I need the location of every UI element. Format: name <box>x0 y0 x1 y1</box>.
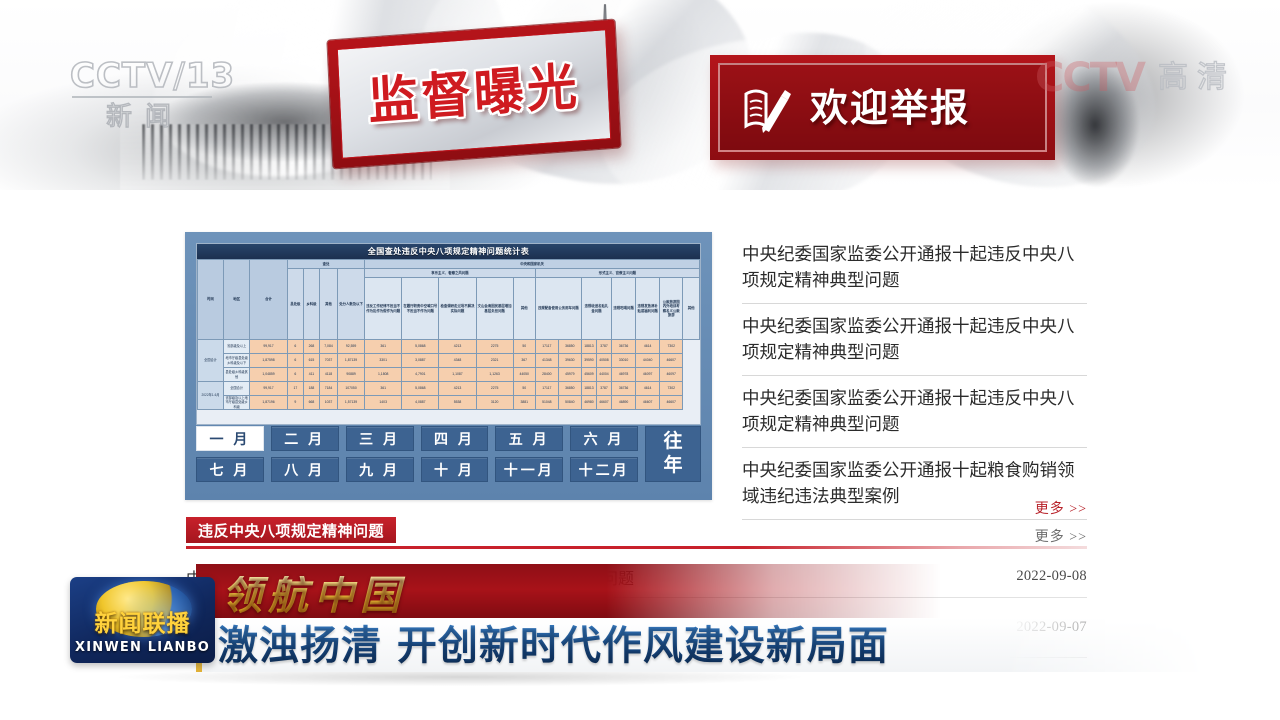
cell-value: 4,0887 <box>402 396 439 410</box>
cell-value: 3787 <box>596 340 611 354</box>
page-content: 全国查处违反中央八项规定精神问题统计表 时间 <box>0 190 1280 720</box>
news-title: 中央纪委国家监委公开通报十起违反中央八项规定精神典型问题 <box>742 385 1087 437</box>
cctv-bug-underline <box>72 96 212 98</box>
cell-value: 5538 <box>439 396 476 410</box>
cell-value: 39590 <box>581 354 596 368</box>
hd-watermark: CCTV 高清 <box>1035 58 1236 98</box>
table-header-row-1: 时间 地区 合计 查处 中央和国家机关 <box>198 260 700 269</box>
cell-value: 3,0887 <box>402 354 439 368</box>
list-item[interactable]: 中央纪委国家监委公开通报十起违反中央八项规定精神典型问题 <box>742 232 1087 304</box>
news-title: 中央纪委国家监委公开通报十起违反中央八项规定精神典型问题 <box>742 241 1087 293</box>
th-group-hedonism: 形式主义、官僚主义问题 <box>535 269 699 278</box>
cell-value: 6 <box>287 340 303 354</box>
cell-value: 4,7901 <box>402 368 439 382</box>
cell-value: 44050 <box>513 368 535 382</box>
th-detail-7: 违规收送名贴礼金问题 <box>581 278 611 340</box>
th-other-level: 其他 <box>319 269 337 340</box>
month-button-2[interactable]: 二 月 <box>271 426 339 451</box>
cell-value: 36850 <box>558 340 581 354</box>
past-years-char-2: 年 <box>663 454 682 478</box>
th-group-central: 中央和国家机关 <box>365 260 700 269</box>
cell-value: 1,1087 <box>439 368 476 382</box>
month-button-7[interactable]: 七 月 <box>196 457 264 482</box>
th-detail-2: 在履行职责中空喊口号不担当不作为问题 <box>402 278 439 340</box>
cell-value: 1403 <box>365 396 402 410</box>
cell-value: 6 <box>287 354 303 368</box>
cell-value: 367 <box>513 354 535 368</box>
cell-region: 全国合计 <box>224 382 250 396</box>
th-county-level: 县处级 <box>287 269 303 340</box>
section-more-link[interactable]: 更多 >> <box>940 478 1087 518</box>
cell-value: 36850 <box>558 382 581 396</box>
th-township-level: 乡科级 <box>303 269 319 340</box>
cell-region: 地市厅级县处级乡科级及以下 <box>224 354 250 368</box>
news-title: 西安通报3起违反中央八项规定精神问题 <box>186 616 466 640</box>
th-detail-10: 公款旅游国内外培训考察名义公款旅游 <box>660 278 683 340</box>
cell-value: 40508 <box>596 354 611 368</box>
cctv-wordmark: CCTV <box>70 56 173 96</box>
broadcast-frame: CCTV/13 新闻 监督曝光 <box>0 0 1280 720</box>
welcome-report-banner: 欢迎举报 <box>710 55 1055 160</box>
cell-value: 17117 <box>535 382 558 396</box>
month-button-12[interactable]: 十二月 <box>570 457 638 482</box>
cell-value: 46607 <box>636 396 660 410</box>
section-tag-badge: 违反中央八项规定精神问题 <box>186 517 396 543</box>
th-detail-3: 检查调研走过场不解决实际问题 <box>439 278 476 340</box>
cell-value: 44004 <box>596 368 611 382</box>
plaque-title: 监督曝光 <box>367 61 581 126</box>
cell-value: 361 <box>365 340 402 354</box>
cell-value: 7037 <box>319 354 337 368</box>
th-period: 时间 <box>198 260 224 340</box>
cctv-bug-text: CCTV/13 <box>70 58 220 94</box>
cell-value: 3787 <box>596 382 611 396</box>
cell-value: 46607 <box>660 354 683 368</box>
statistics-table-shell: 全国查处违反中央八项规定精神问题统计表 时间 <box>196 243 701 425</box>
cell-value: 1037 <box>319 396 337 410</box>
cell-value: 4614 <box>636 382 660 396</box>
th-region: 地区 <box>224 260 250 340</box>
cell-value: 1,57139 <box>338 396 365 410</box>
table-row: 地市厅级县处级乡科级及以下 1,87598 6 615 7037 1,87139… <box>198 354 700 368</box>
news-date: 2022-09-08 <box>1016 568 1087 585</box>
cell-value: 4614 <box>636 340 660 354</box>
cell-value: 3881 <box>513 396 535 410</box>
cell-value: 5,0868 <box>402 382 439 396</box>
th-detail-1: 违反工作纪律不担当不作为乱作为假作为问题 <box>365 278 402 340</box>
supervision-exposure-plaque: 监督曝光 <box>327 20 620 169</box>
cell-value: 28400 <box>535 368 558 382</box>
cell-value: 36736 <box>612 340 636 354</box>
cell-region: 县处级乡科级其他 <box>224 368 250 382</box>
cctv13-channel-bug: CCTV/13 新闻 <box>70 58 220 136</box>
hd-label: 高清 <box>1158 63 1236 93</box>
cell-region: 省部级及以上 <box>224 340 250 354</box>
month-button-1[interactable]: 一 月 <box>196 426 264 451</box>
cell-value: 3120 <box>476 396 513 410</box>
th-detail-6: 违规配备使用公务用车问题 <box>535 278 581 340</box>
cell-value: 92,559 <box>338 340 365 354</box>
month-button-5[interactable]: 五 月 <box>495 426 563 451</box>
month-grid: 一 月 二 月 三 月 四 月 五 月 六 月 往 年 七 月 八 月 九 月 … <box>196 426 701 482</box>
cell-value: 4213 <box>439 382 476 396</box>
cctv-bug-chinese-label: 新闻 <box>70 101 220 131</box>
cell-value: 2275 <box>476 382 513 396</box>
statistics-table: 时间 地区 合计 查处 中央和国家机关 县处级 乡科级 其他 处分人数及以下 <box>197 259 700 410</box>
cell-period: 全国合计 <box>198 340 224 382</box>
table-row: 县处级乡科级其他 1,04859 6 411 4118 90889 1,1808… <box>198 368 700 382</box>
cell-value: 46607 <box>596 396 611 410</box>
th-detail-5: 其他 <box>513 278 535 340</box>
section-news-list: 中央纪委国家监委公开通报十起违反中央八项规定精神典型问题 2022-09-08 … <box>186 556 1087 658</box>
cell-value: 99,917 <box>250 382 288 396</box>
cell-value: 46607 <box>660 396 683 410</box>
cell-value: 7,084 <box>319 340 337 354</box>
cctv-logo-watermark: CCTV <box>1035 58 1144 98</box>
th-discipline-count: 处分人数及以下 <box>338 269 365 340</box>
cell-value: 188 <box>303 382 319 396</box>
cell-value: 46890 <box>612 396 636 410</box>
month-button-8[interactable]: 八 月 <box>271 457 339 482</box>
cell-value: 18813 <box>581 340 596 354</box>
cell-region: 省部级及以上地市厅级县处级乡科级 <box>224 396 250 410</box>
cell-value: 51048 <box>535 396 558 410</box>
cell-value: 1,1808 <box>365 368 402 382</box>
cell-value: 46097 <box>660 368 683 382</box>
list-item[interactable]: 中央纪委国家监委公开通报十起违反中央八项规定精神典型问题 2022-09-08 <box>186 556 1087 598</box>
cell-value: 6 <box>287 368 303 382</box>
month-button-10[interactable]: 十 月 <box>421 457 489 482</box>
cell-value: 36736 <box>612 382 636 396</box>
statistics-table-head: 时间 地区 合计 查处 中央和国家机关 县处级 乡科级 其他 处分人数及以下 <box>198 260 700 340</box>
month-selector: 一 月 二 月 三 月 四 月 五 月 六 月 往 年 七 月 八 月 九 月 … <box>196 426 701 482</box>
th-group-punishment: 查处 <box>287 260 364 269</box>
cell-value: 9 <box>287 396 303 410</box>
cell-period: 2022年1-6月 <box>198 382 224 410</box>
program-header-banner: CCTV/13 新闻 监督曝光 <box>0 0 1280 190</box>
cell-value: 46978 <box>612 368 636 382</box>
cell-value: 46097 <box>636 368 660 382</box>
th-group-formalism: 享乐主义、奢靡之风问题 <box>365 269 536 278</box>
th-detail-9: 违规发放津补贴或福利问题 <box>636 278 660 340</box>
cell-value: 2275 <box>476 340 513 354</box>
table-row: 省部级及以上地市厅级县处级乡科级 1,87196 9 668 1037 1,57… <box>198 396 700 410</box>
cell-value: 361 <box>365 382 402 396</box>
cctv-bug-slash: / <box>173 56 185 96</box>
month-button-11[interactable]: 十一月 <box>495 457 563 482</box>
statistics-table-title: 全国查处违反中央八项规定精神问题统计表 <box>197 244 700 259</box>
welcome-report-inner: 欢迎举报 <box>718 63 1047 152</box>
table-row: 全国合计 省部级及以上 99,917 6 268 7,084 92,559 36… <box>198 340 700 354</box>
cell-value: 668 <box>303 396 319 410</box>
cell-value: 1,1263 <box>476 368 513 382</box>
cell-value: 7184 <box>319 382 337 396</box>
month-button-9[interactable]: 九 月 <box>346 457 414 482</box>
th-detail-8: 违规吃喝问题 <box>612 278 636 340</box>
cell-value: 5,0868 <box>402 340 439 354</box>
cell-value: 4348 <box>439 354 476 368</box>
cell-value: 99,917 <box>250 340 288 354</box>
list-item[interactable]: 中央纪委国家监委公开通报十起违反中央八项规定精神典型问题 <box>742 304 1087 376</box>
cell-value: 2321 <box>476 354 513 368</box>
th-total: 合计 <box>250 260 288 340</box>
cell-value: 50840 <box>558 396 581 410</box>
cell-value: 7302 <box>660 382 683 396</box>
cell-value: 3301 <box>365 354 402 368</box>
section-divider <box>186 546 1087 549</box>
month-button-6[interactable]: 六 月 <box>570 426 638 451</box>
cell-value: 41348 <box>535 354 558 368</box>
past-years-char-1: 往 <box>663 430 682 454</box>
table-row: 2022年1-6月 全国合计 99,917 17 188 7184 107050… <box>198 382 700 396</box>
news-title: 中央纪委国家监委公开通报十起违反中央八项规定精神典型问题 <box>186 565 634 589</box>
cell-value: 50 <box>513 340 535 354</box>
pen-document-icon <box>740 82 794 134</box>
cell-value: 615 <box>303 354 319 368</box>
cell-value: 45609 <box>581 368 596 382</box>
news-date: 2022-09-07 <box>1016 619 1087 636</box>
cctv-bug-number: 13 <box>186 56 235 96</box>
cell-value: 1,87196 <box>250 396 288 410</box>
welcome-report-label: 欢迎举报 <box>810 89 970 127</box>
cell-value: 411 <box>303 368 319 382</box>
cell-value: 17 <box>287 382 303 396</box>
news-more-link[interactable]: 更多 >> <box>742 520 1087 546</box>
cell-value: 1,04859 <box>250 368 288 382</box>
statistics-table-grid: 时间 地区 合计 查处 中央和国家机关 县处级 乡科级 其他 处分人数及以下 <box>197 259 700 410</box>
cell-value: 4118 <box>319 368 337 382</box>
past-years-button[interactable]: 往 年 <box>645 426 701 482</box>
cell-value: 4213 <box>439 340 476 354</box>
cell-value: 46980 <box>581 396 596 410</box>
cell-value: 268 <box>303 340 319 354</box>
cell-value: 7302 <box>660 340 683 354</box>
cell-value: 44040 <box>636 354 660 368</box>
statistics-table-body: 全国合计 省部级及以上 99,917 6 268 7,084 92,559 36… <box>198 340 700 410</box>
cell-value: 1,87598 <box>250 354 288 368</box>
list-item[interactable]: 西安通报3起违反中央八项规定精神问题 2022-09-07 <box>186 598 1087 658</box>
list-item[interactable]: 中央纪委国家监委公开通报十起违反中央八项规定精神典型问题 <box>742 376 1087 448</box>
cell-value: 107050 <box>338 382 365 396</box>
cell-value: 18813 <box>581 382 596 396</box>
th-detail-4: 文山会海困扰基层增加基层负担问题 <box>476 278 513 340</box>
th-detail-11: 其他 <box>683 278 700 340</box>
cell-value: 45979 <box>558 368 581 382</box>
cell-value: 90889 <box>338 368 365 382</box>
month-button-3[interactable]: 三 月 <box>346 426 414 451</box>
cell-value: 39630 <box>558 354 581 368</box>
plaque-inner-panel: 监督曝光 <box>337 29 611 159</box>
cell-value: 17117 <box>535 340 558 354</box>
month-button-4[interactable]: 四 月 <box>421 426 489 451</box>
cell-value: 1,87139 <box>338 354 365 368</box>
cell-value: 50 <box>513 382 535 396</box>
cell-value: 33010 <box>612 354 636 368</box>
news-title: 中央纪委国家监委公开通报十起违反中央八项规定精神典型问题 <box>742 313 1087 365</box>
